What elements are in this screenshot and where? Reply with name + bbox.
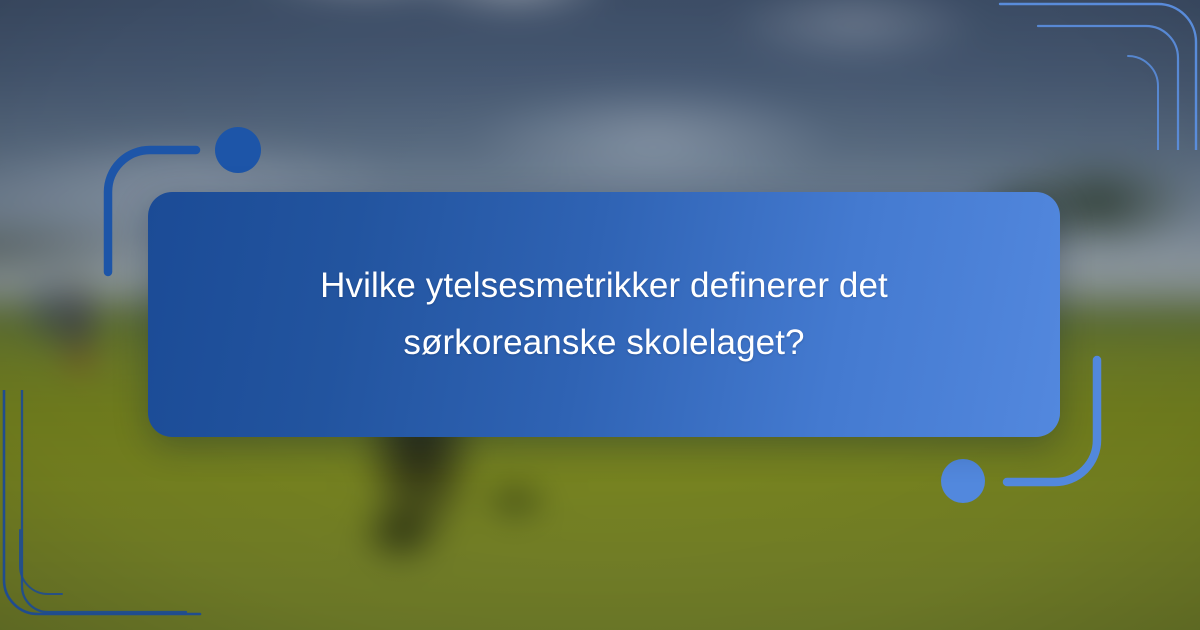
question-text: Hvilke ytelsesmetrikker definerer det sø… — [274, 258, 934, 371]
question-card: Hvilke ytelsesmetrikker definerer det sø… — [148, 192, 1060, 437]
poster-canvas: Hvilke ytelsesmetrikker definerer det sø… — [0, 0, 1200, 630]
